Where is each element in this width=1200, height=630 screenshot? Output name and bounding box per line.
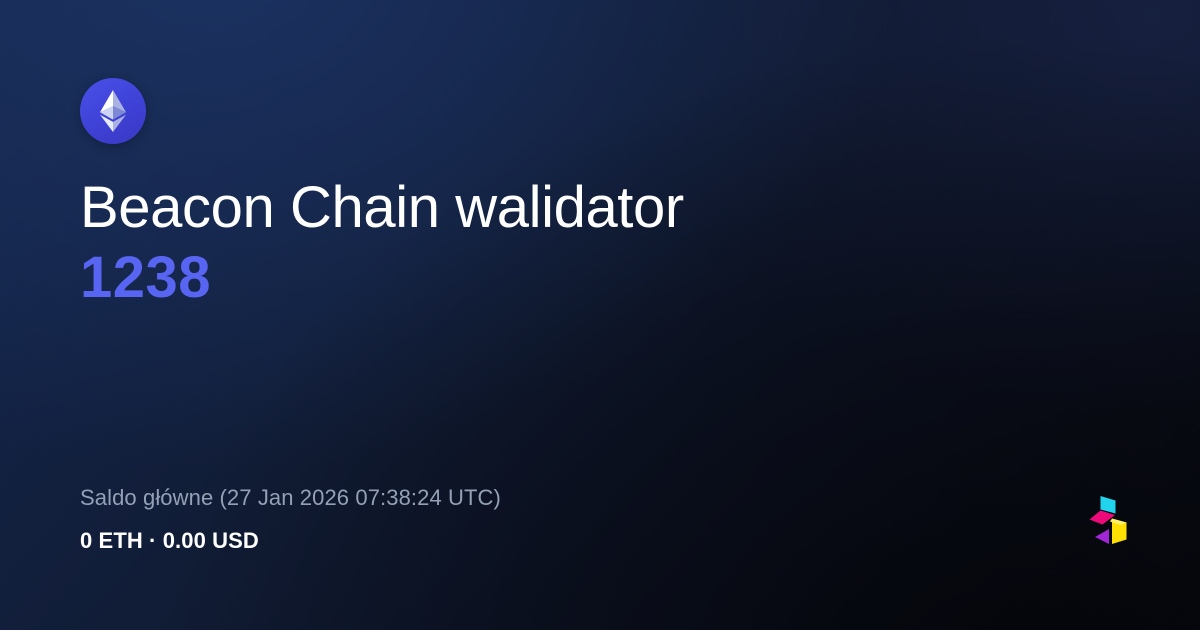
avatar — [80, 78, 146, 144]
card-content: Beacon Chain walidator 1238 — [80, 78, 1120, 309]
balance-label: Saldo główne (27 Jan 2026 07:38:24 UTC) — [80, 485, 501, 511]
validator-index: 1238 — [80, 248, 1120, 308]
beaconchain-logo-icon — [1088, 494, 1128, 548]
page-title: Beacon Chain walidator — [80, 178, 1120, 238]
ethereum-icon — [99, 89, 127, 133]
balance-section: Saldo główne (27 Jan 2026 07:38:24 UTC) … — [80, 485, 501, 554]
social-card: Beacon Chain walidator 1238 Saldo główne… — [0, 0, 1200, 630]
balance-value: 0 ETH · 0.00 USD — [80, 528, 501, 554]
